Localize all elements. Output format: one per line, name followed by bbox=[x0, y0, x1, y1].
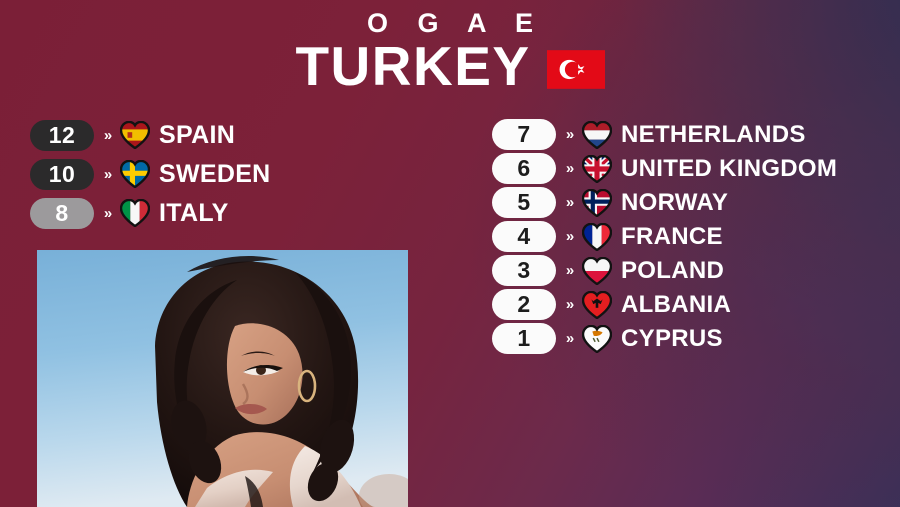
netherlands-heart-flag-icon bbox=[582, 121, 612, 149]
albania-heart-flag-icon bbox=[582, 291, 612, 319]
artist-photo-image bbox=[37, 250, 408, 507]
points-badge: 8 bbox=[30, 198, 94, 229]
page-title: TURKEY bbox=[295, 36, 530, 96]
country-name: SWEDEN bbox=[159, 160, 271, 189]
vote-row: 6 » UNITED KINGDOM bbox=[492, 152, 837, 185]
turkey-flag-icon bbox=[547, 50, 605, 89]
poland-heart-flag-icon bbox=[582, 257, 612, 285]
country-name: POLAND bbox=[621, 257, 724, 285]
cyprus-heart-flag-icon bbox=[582, 325, 612, 353]
vote-list-right: 7 » NETHERLANDS 6 » bbox=[492, 118, 837, 356]
org-name: O G A E bbox=[0, 8, 900, 38]
vote-row: 12 » SPAIN bbox=[30, 118, 271, 152]
country-name: NETHERLANDS bbox=[621, 121, 806, 149]
vote-row: 1 » CYPRUS bbox=[492, 322, 837, 355]
uk-heart-flag-icon bbox=[582, 155, 612, 183]
country-name: NORWAY bbox=[621, 189, 728, 217]
chevron-right-icon: » bbox=[556, 126, 582, 143]
points-badge: 7 bbox=[492, 119, 556, 150]
points-badge: 10 bbox=[30, 159, 94, 190]
vote-row: 3 » POLAND bbox=[492, 254, 837, 287]
country-name: CYPRUS bbox=[621, 325, 723, 353]
country-name: ALBANIA bbox=[621, 291, 731, 319]
title-row: TURKEY bbox=[0, 36, 900, 96]
sweden-heart-flag-icon bbox=[120, 160, 150, 188]
points-badge: 3 bbox=[492, 255, 556, 286]
chevron-right-icon: » bbox=[556, 194, 582, 211]
chevron-right-icon: » bbox=[556, 296, 582, 313]
points-badge: 12 bbox=[30, 120, 94, 151]
france-heart-flag-icon bbox=[582, 223, 612, 251]
spain-heart-flag-icon bbox=[120, 121, 150, 149]
artist-photo bbox=[37, 250, 408, 507]
vote-row: 4 » FRANCE bbox=[492, 220, 837, 253]
chevron-right-icon: » bbox=[556, 330, 582, 347]
country-name: SPAIN bbox=[159, 121, 235, 150]
chevron-right-icon: » bbox=[94, 127, 120, 144]
ogae-turkey-vote-card: O G A E TURKEY 12 » bbox=[0, 0, 900, 507]
points-badge: 5 bbox=[492, 187, 556, 218]
italy-heart-flag-icon bbox=[120, 199, 150, 227]
country-name: UNITED KINGDOM bbox=[621, 155, 837, 183]
vote-row: 8 » ITALY bbox=[30, 196, 271, 230]
vote-row: 10 » SWEDEN bbox=[30, 157, 271, 191]
vote-list-left: 12 » SPAIN 10 » bbox=[30, 118, 271, 235]
points-badge: 4 bbox=[492, 221, 556, 252]
norway-heart-flag-icon bbox=[582, 189, 612, 217]
vote-row: 2 » ALBANIA bbox=[492, 288, 837, 321]
chevron-right-icon: » bbox=[556, 262, 582, 279]
points-badge: 1 bbox=[492, 323, 556, 354]
vote-row: 7 » NETHERLANDS bbox=[492, 118, 837, 151]
chevron-right-icon: » bbox=[556, 228, 582, 245]
points-badge: 2 bbox=[492, 289, 556, 320]
header: O G A E TURKEY bbox=[0, 8, 900, 96]
chevron-right-icon: » bbox=[556, 160, 582, 177]
chevron-right-icon: » bbox=[94, 205, 120, 222]
country-name: ITALY bbox=[159, 199, 229, 228]
country-name: FRANCE bbox=[621, 223, 723, 251]
chevron-right-icon: » bbox=[94, 166, 120, 183]
vote-row: 5 » NORWAY bbox=[492, 186, 837, 219]
points-badge: 6 bbox=[492, 153, 556, 184]
